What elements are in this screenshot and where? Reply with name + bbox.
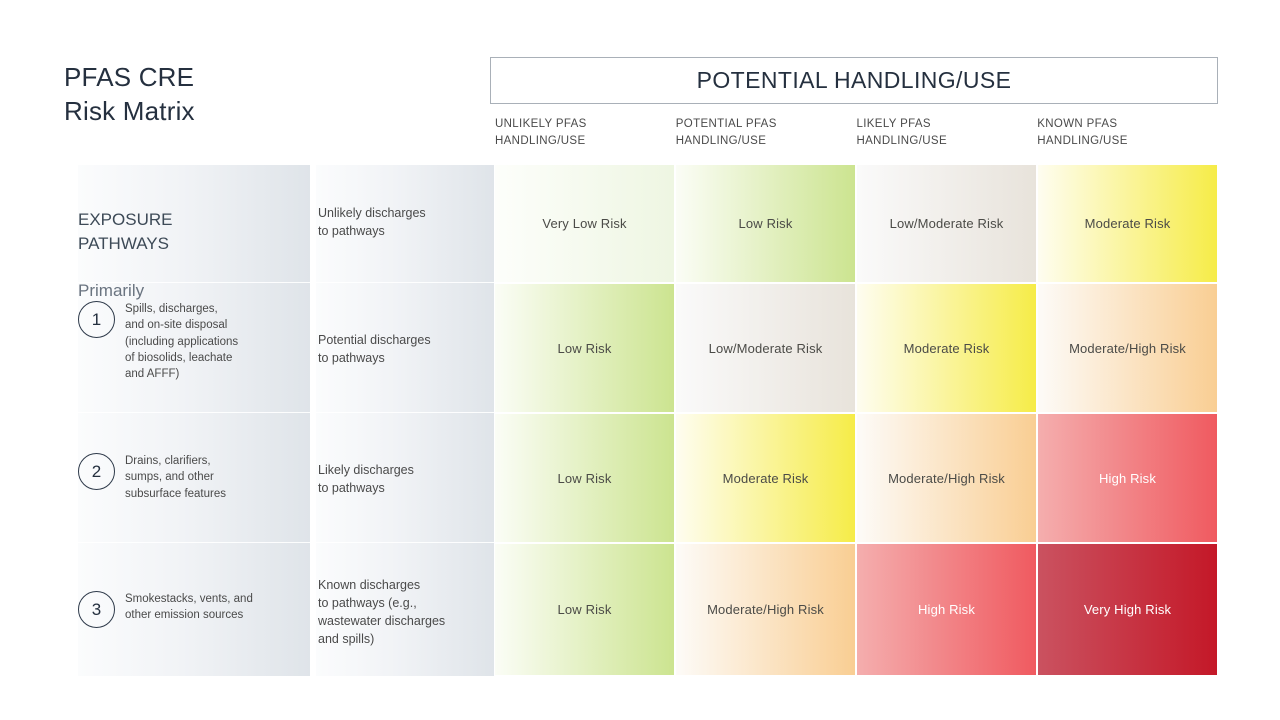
risk-cell-label: Low Risk xyxy=(552,341,618,356)
exposure-pathways-heading: EXPOSURE PATHWAYS Primarily xyxy=(78,185,172,302)
exposure-pathways-heading-sub: Primarily xyxy=(78,281,144,300)
risk-cell-label: Moderate/High Risk xyxy=(882,471,1011,486)
risk-cell: Moderate/High Risk xyxy=(857,414,1036,542)
page-title: PFAS CRE Risk Matrix xyxy=(64,60,195,129)
panel-row-separator xyxy=(316,412,494,413)
risk-cell: Low Risk xyxy=(495,544,674,675)
risk-cell-label: Very High Risk xyxy=(1078,602,1177,617)
risk-cell-label: Moderate Risk xyxy=(1079,216,1177,231)
pathway-number-3: 3 xyxy=(78,591,115,628)
risk-cell: Low Risk xyxy=(495,414,674,542)
risk-cell-label: Low Risk xyxy=(552,471,618,486)
risk-cell: Low/Moderate Risk xyxy=(676,284,855,412)
column-header-likely: LIKELY PFAS HANDLING/USE xyxy=(857,116,1038,149)
risk-cell-label: Moderate Risk xyxy=(717,471,815,486)
risk-cell-label: High Risk xyxy=(912,602,981,617)
potential-handling-use-banner: POTENTIAL HANDLING/USE xyxy=(490,57,1218,104)
column-header-row: UNLIKELY PFAS HANDLING/USE POTENTIAL PFA… xyxy=(495,116,1218,149)
risk-cell: Low/Moderate Risk xyxy=(857,165,1036,282)
risk-cell: Very High Risk xyxy=(1038,544,1217,675)
panel-row-separator xyxy=(316,542,494,543)
column-header-unlikely: UNLIKELY PFAS HANDLING/USE xyxy=(495,116,676,149)
risk-cell-label: Low Risk xyxy=(733,216,799,231)
risk-cell-label: Very Low Risk xyxy=(536,216,632,231)
panel-row-separator xyxy=(78,412,310,413)
risk-cell-label: Moderate Risk xyxy=(898,341,996,356)
exposure-pathways-heading-main: EXPOSURE PATHWAYS xyxy=(78,210,172,252)
risk-cell-label: Moderate/High Risk xyxy=(701,602,830,617)
panel-row-separator xyxy=(316,282,494,283)
risk-cell: Moderate/High Risk xyxy=(676,544,855,675)
pathway-number-1: 1 xyxy=(78,301,115,338)
risk-cell-label: Low/Moderate Risk xyxy=(884,216,1010,231)
risk-cell: Very Low Risk xyxy=(495,165,674,282)
pathway-item-1: 1 Spills, discharges, and on-site dispos… xyxy=(78,300,310,383)
column-header-known: KNOWN PFAS HANDLING/USE xyxy=(1037,116,1218,149)
column-header-potential: POTENTIAL PFAS HANDLING/USE xyxy=(676,116,857,149)
discharge-label-known: Known discharges to pathways (e.g., wast… xyxy=(318,576,486,649)
risk-cell-label: Low/Moderate Risk xyxy=(703,341,829,356)
banner-label: POTENTIAL HANDLING/USE xyxy=(697,67,1012,94)
discharge-label-unlikely: Unlikely discharges to pathways xyxy=(318,204,486,240)
pathway-item-2: 2 Drains, clarifiers, sumps, and other s… xyxy=(78,452,310,502)
pathway-text-1: Spills, discharges, and on-site disposal… xyxy=(125,300,238,383)
pathway-item-3: 3 Smokestacks, vents, and other emission… xyxy=(78,590,310,628)
discharge-label-likely: Likely discharges to pathways xyxy=(318,461,486,497)
risk-cell: High Risk xyxy=(1038,414,1217,542)
risk-cell: Low Risk xyxy=(676,165,855,282)
discharge-label-potential: Potential discharges to pathways xyxy=(318,331,486,367)
risk-cell-grid: Very Low RiskLow RiskLow/Moderate RiskMo… xyxy=(495,165,1218,676)
risk-cell: Moderate Risk xyxy=(1038,165,1217,282)
pathway-number-2: 2 xyxy=(78,453,115,490)
risk-cell: Low Risk xyxy=(495,284,674,412)
pathway-text-3: Smokestacks, vents, and other emission s… xyxy=(125,590,253,624)
risk-cell: Moderate Risk xyxy=(857,284,1036,412)
pathway-text-2: Drains, clarifiers, sumps, and other sub… xyxy=(125,452,226,502)
risk-cell-label: Low Risk xyxy=(552,602,618,617)
panel-row-separator xyxy=(78,542,310,543)
risk-cell: Moderate Risk xyxy=(676,414,855,542)
risk-cell: High Risk xyxy=(857,544,1036,675)
risk-cell-label: High Risk xyxy=(1093,471,1162,486)
risk-cell: Moderate/High Risk xyxy=(1038,284,1217,412)
risk-cell-label: Moderate/High Risk xyxy=(1063,341,1192,356)
